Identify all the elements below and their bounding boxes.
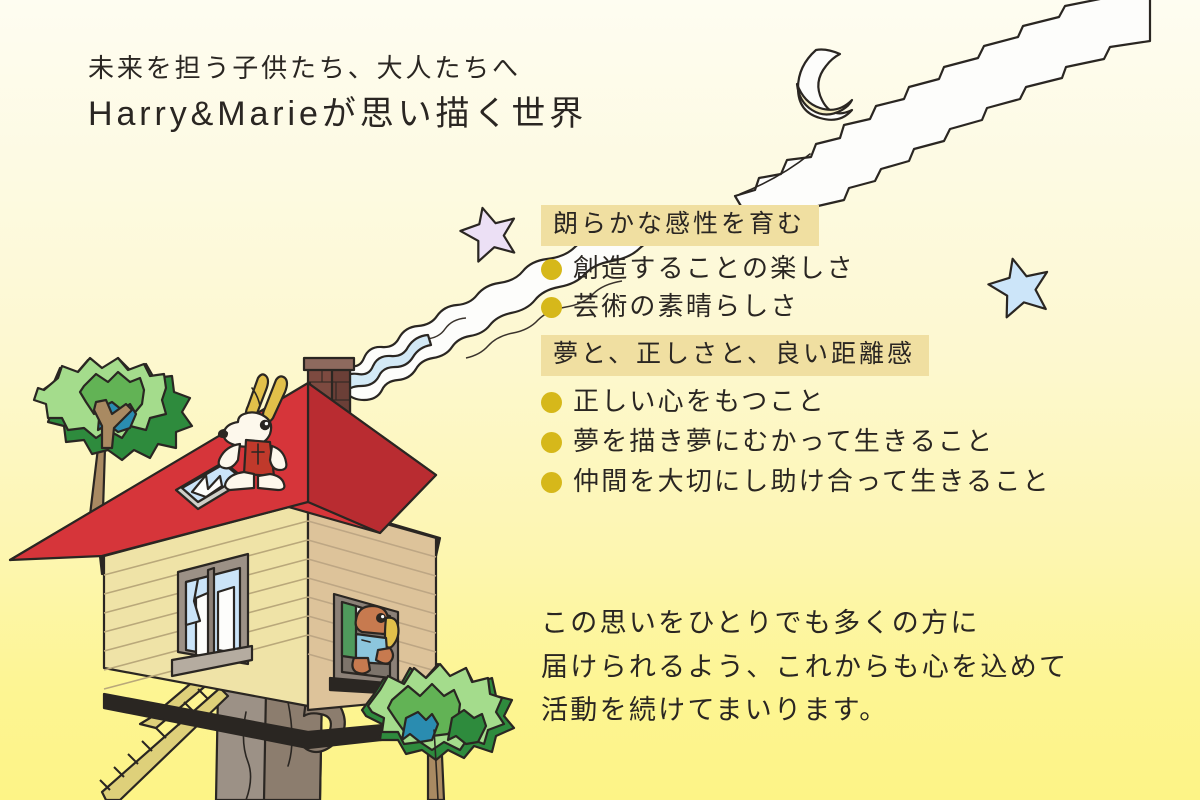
page-title: Harry&Marieが思い描く世界 xyxy=(88,92,587,136)
list-item: 創造することの楽しさ xyxy=(541,255,1161,281)
list-item: 夢を描き夢にむかって生きること xyxy=(541,428,1161,454)
list-item: 仲間を大切にし助け合って生きること xyxy=(541,468,1161,494)
list-item-label: 創造することの楽しさ xyxy=(573,255,855,281)
front-window xyxy=(172,554,252,676)
list-item-label: 仲間を大切にし助け合って生きること xyxy=(573,468,1051,494)
list-item-label: 正しい心をもつこと xyxy=(573,388,826,414)
list-item: 芸術の素晴らしさ xyxy=(541,293,1161,319)
kicker-text: 未来を担う子供たち、大人たちへ xyxy=(88,52,587,85)
closing-paragraph: この思いをひとりでも多くの方に 届けられるよう、これからも心を込めて 活動を続け… xyxy=(541,602,1068,733)
bullet-dot-icon xyxy=(541,392,562,413)
bullet-list-1: 創造することの楽しさ 芸術の素晴らしさ xyxy=(541,255,1161,319)
bullet-dot-icon xyxy=(541,259,562,280)
poster-canvas: .o { stroke:#2a2622; stroke-width:2.2; s… xyxy=(0,0,1200,800)
headline-block: 未来を担う子供たち、大人たちへ Harry&Marieが思い描く世界 xyxy=(88,52,587,136)
list-item-label: 夢を描き夢にむかって生きること xyxy=(573,428,994,454)
bullet-dot-icon xyxy=(541,297,562,318)
list-item: 正しい心をもつこと xyxy=(541,388,1161,414)
long-cloud-icon xyxy=(735,0,1150,238)
right-tree xyxy=(362,664,514,800)
bullet-dot-icon xyxy=(541,472,562,493)
message-block: 朗らかな感性を育む 創造することの楽しさ 芸術の素晴らしさ 夢と、正しさと、良い… xyxy=(541,205,1161,508)
list-item-label: 芸術の素晴らしさ xyxy=(573,293,799,319)
section-heading-1: 朗らかな感性を育む xyxy=(541,205,819,246)
crescent-moon-icon xyxy=(797,50,852,120)
bullet-dot-icon xyxy=(541,432,562,453)
section-group-2: 夢と、正しさと、良い距離感 正しい心をもつこと 夢を描き夢にむかって生きること … xyxy=(541,335,1161,494)
section-heading-2: 夢と、正しさと、良い距離感 xyxy=(541,335,929,376)
purple-star-icon xyxy=(456,201,522,264)
section-group-1: 朗らかな感性を育む 創造することの楽しさ 芸術の素晴らしさ xyxy=(541,205,1161,319)
bullet-list-2: 正しい心をもつこと 夢を描き夢にむかって生きること 仲間を大切にし助け合って生き… xyxy=(541,388,1161,494)
